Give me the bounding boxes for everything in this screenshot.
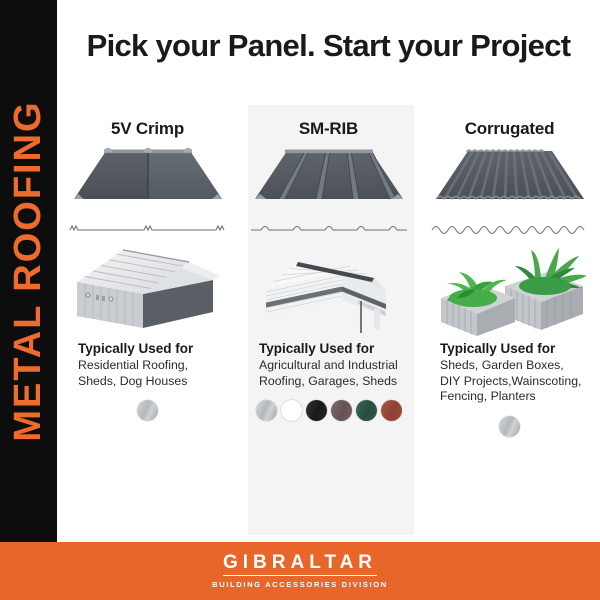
panel-column-sm-rib[interactable]: SM-RIB (238, 105, 419, 535)
usage-block-sm-rib: Typically Used for Agricultural and Indu… (251, 341, 406, 389)
usage-body: Agricultural and Industrial Roofing, Gar… (259, 358, 406, 389)
page-title: Pick your Panel. Start your Project (57, 28, 600, 64)
usage-label: Typically Used for (440, 341, 587, 356)
brand-tagline: BUILDING ACCESSORIES DIVISION (212, 580, 388, 589)
swatch-galvanized[interactable] (256, 400, 277, 421)
usage-label: Typically Used for (259, 341, 406, 356)
swatch-white[interactable] (281, 400, 302, 421)
5v-crimp-panel-icon (68, 147, 228, 212)
5v-crimp-profile-icon (68, 218, 228, 236)
color-swatches-5v-crimp[interactable] (63, 400, 233, 421)
planter-boxes-illustration (427, 242, 592, 337)
swatch-galvanized[interactable] (137, 400, 158, 421)
usage-body: Sheds, Garden Boxes, DIY Projects,Wainsc… (440, 358, 587, 405)
brand-logo: GIBRALTAR (223, 553, 377, 576)
panel-title-sm-rib: SM-RIB (299, 119, 358, 139)
corrugated-profile-icon (430, 218, 590, 236)
color-swatches-sm-rib[interactable] (244, 400, 414, 421)
infographic-page: METAL ROOFING Pick your Panel. Start you… (0, 0, 600, 600)
swatch-green[interactable] (356, 400, 377, 421)
sidebar-label: METAL ROOFING (0, 0, 57, 542)
panel-column-5v-crimp[interactable]: 5V Crimp (57, 105, 238, 535)
sm-rib-panel-icon (249, 147, 409, 212)
footer-brand-bar: GIBRALTAR BUILDING ACCESSORIES DIVISION (0, 542, 600, 600)
corrugated-panel-icon (430, 147, 590, 212)
swatch-black[interactable] (306, 400, 327, 421)
panel-column-corrugated[interactable]: Corrugated (419, 105, 600, 535)
usage-body: Residential Roofing, Sheds, Dog Houses (78, 358, 225, 389)
swatch-brown[interactable] (331, 400, 352, 421)
usage-block-corrugated: Typically Used for Sheds, Garden Boxes, … (432, 341, 587, 405)
house-shed-illustration (65, 242, 230, 337)
panel-title-5v-crimp: 5V Crimp (111, 119, 184, 139)
usage-label: Typically Used for (78, 341, 225, 356)
color-swatches-corrugated[interactable] (425, 416, 595, 437)
swatch-red[interactable] (381, 400, 402, 421)
usage-block-5v-crimp: Typically Used for Residential Roofing, … (70, 341, 225, 389)
swatch-galvanized[interactable] (499, 416, 520, 437)
panel-title-corrugated: Corrugated (465, 119, 555, 139)
panel-columns: 5V Crimp (57, 105, 600, 535)
sidebar-banner: METAL ROOFING (0, 0, 57, 542)
sm-rib-profile-icon (249, 218, 409, 236)
barn-garage-illustration (246, 242, 411, 337)
